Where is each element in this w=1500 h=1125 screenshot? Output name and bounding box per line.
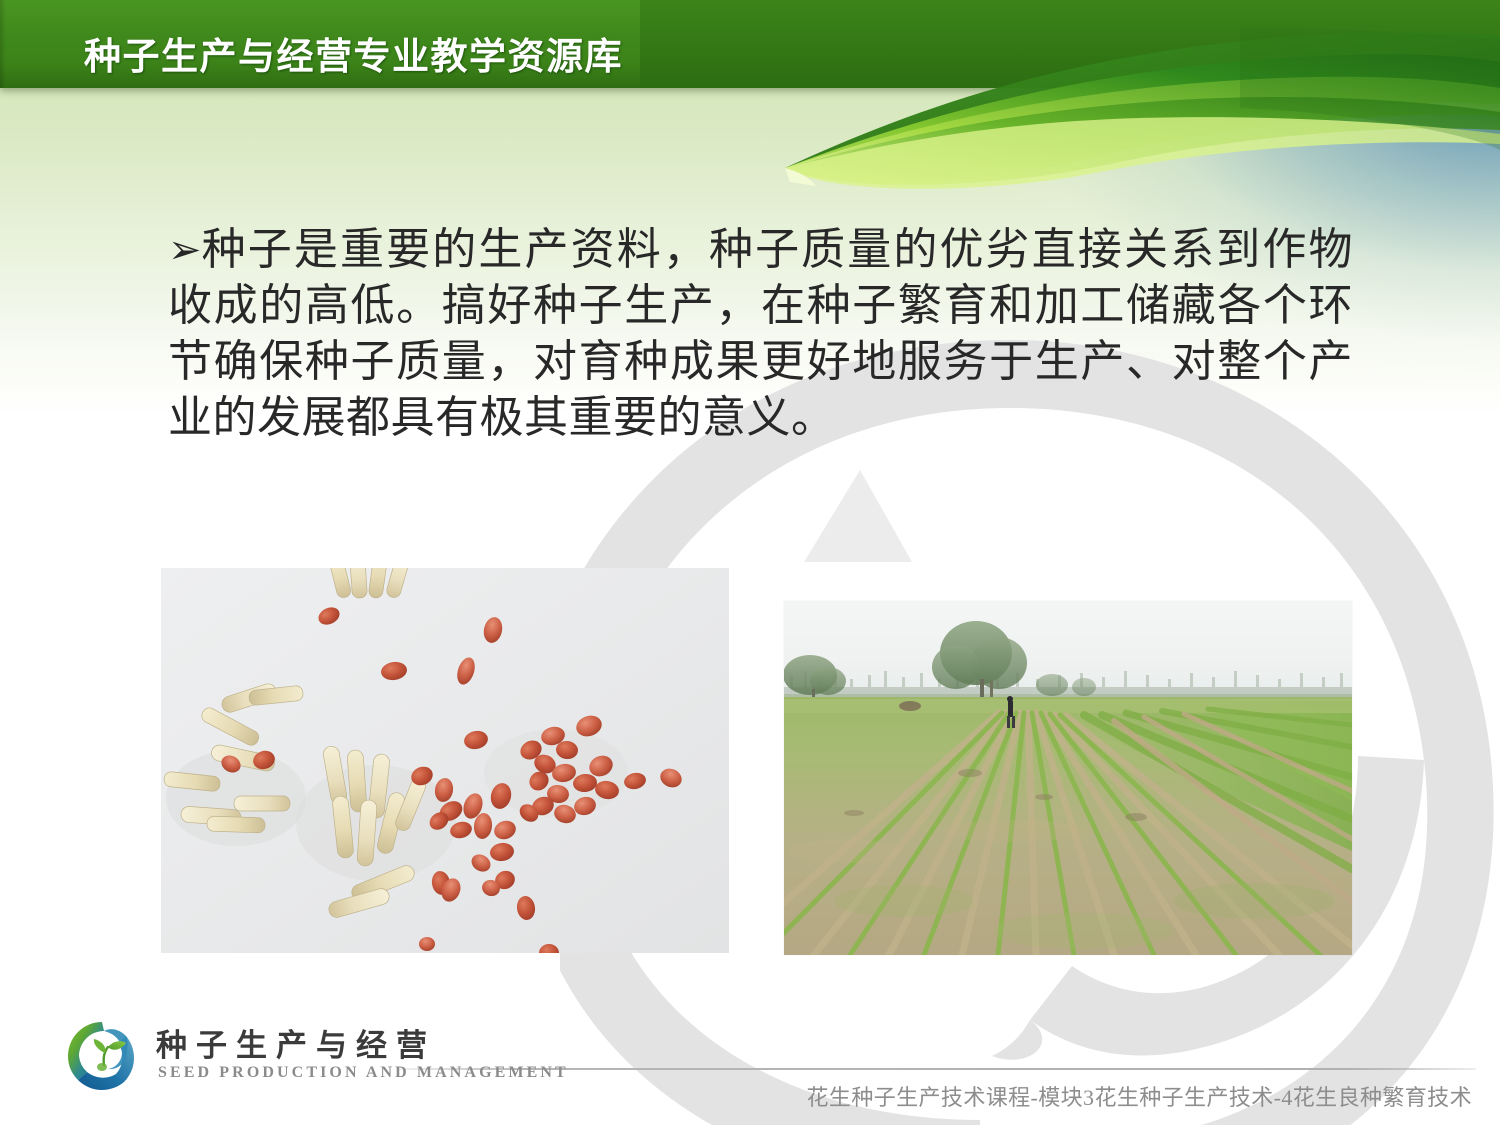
footer-logo: 种子生产与经营 SEED PRODUCTION AND MANAGEMENT [64,1016,484,1098]
logo-english-name: SEED PRODUCTION AND MANAGEMENT [158,1064,569,1082]
peanut-pods-and-kernels-image [161,568,729,953]
body-paragraph: ➢种子是重要的生产资料，种子质量的优劣直接关系到作物收成的高低。搞好种子生产，在… [168,222,1353,446]
arrow-bullet-icon: ➢ [168,222,202,278]
logo-chinese-name: 种子生产与经营 [156,1020,436,1065]
slide-canvas: 种子生产与经营专业教学资源库 ➢种子是重要的生产资料，种子质量的优劣直接关系到作… [0,0,1500,1125]
seed-swirl-sprout-logo-icon [64,1018,140,1094]
body-paragraph-text: 种子是重要的生产资料，种子质量的优劣直接关系到作物收成的高低。搞好种子生产，在种… [168,225,1353,442]
peanut-seed-production-field-image [784,601,1352,955]
page-title: 种子生产与经营专业教学资源库 [84,26,623,80]
footer-course-path: 花生种子生产技术课程-模块3花生种子生产技术-4花生良种繁育技术 [807,1080,1472,1112]
